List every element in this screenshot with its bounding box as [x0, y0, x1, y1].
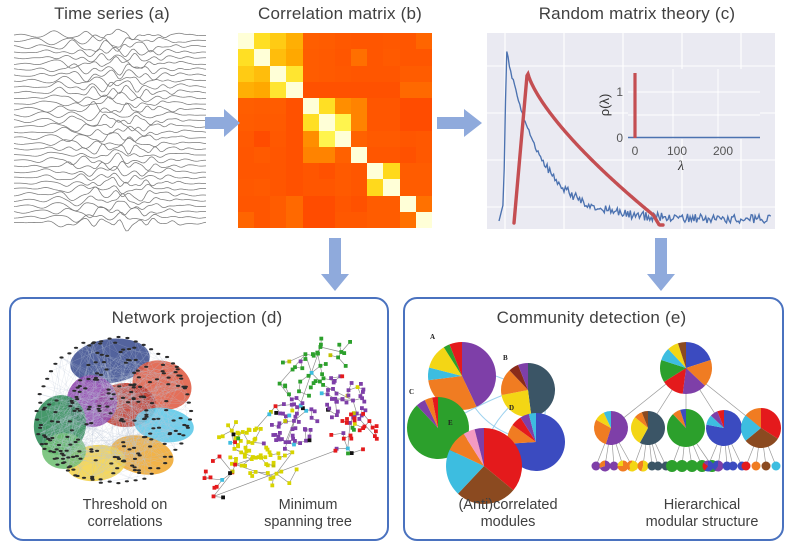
matrix-cell	[319, 179, 335, 195]
network-node	[134, 340, 138, 342]
network-node	[97, 408, 101, 410]
mst-node	[351, 399, 355, 403]
matrix-cell	[270, 196, 286, 212]
panel-a-title: Time series (a)	[22, 4, 202, 24]
matrix-cell	[383, 98, 399, 114]
mst-node	[212, 495, 216, 499]
mst-node	[239, 451, 243, 455]
mst-node	[266, 448, 270, 452]
network-node	[98, 342, 102, 344]
matrix-cell	[416, 179, 432, 195]
network-node	[38, 402, 42, 404]
network-node	[61, 458, 65, 460]
mst-node	[266, 463, 270, 467]
mst-node	[221, 434, 225, 438]
matrix-cell	[319, 147, 335, 163]
network-node	[73, 410, 77, 412]
network-node	[162, 372, 166, 374]
network-node	[74, 396, 78, 398]
matrix-cell	[303, 212, 319, 228]
network-node	[60, 453, 64, 455]
matrix-cell	[286, 196, 302, 212]
pie-slice	[592, 462, 601, 471]
mst-node	[320, 372, 324, 376]
mst-edge	[277, 474, 290, 483]
mst-node	[283, 384, 287, 388]
network-node	[149, 348, 153, 350]
network-node	[78, 379, 82, 381]
network-node	[120, 418, 124, 420]
matrix-cell	[286, 33, 302, 49]
mst-node	[356, 385, 360, 389]
mst-node	[334, 400, 338, 404]
mst-node	[241, 430, 245, 434]
matrix-cell	[286, 114, 302, 130]
network-node	[142, 418, 146, 420]
network-node	[108, 338, 112, 340]
mst-node	[278, 438, 282, 442]
inset-xtick-200: 200	[713, 144, 733, 158]
mst-node	[347, 388, 351, 392]
network-node	[148, 445, 152, 447]
network-node	[68, 420, 72, 422]
caption-threshold-line1: Threshold on	[45, 497, 205, 514]
mst-node	[283, 447, 287, 451]
network-node	[83, 387, 87, 389]
network-node	[97, 410, 101, 412]
network-node	[86, 364, 90, 366]
module-label: C	[409, 388, 414, 396]
matrix-cell	[416, 114, 432, 130]
matrix-cell	[303, 196, 319, 212]
network-node	[57, 444, 61, 446]
mst-node	[361, 447, 365, 451]
network-node	[133, 469, 137, 471]
mst-node	[319, 364, 323, 368]
network-node	[52, 451, 56, 453]
matrix-cell	[319, 98, 335, 114]
matrix-cell	[303, 163, 319, 179]
network-node	[59, 450, 63, 452]
matrix-cell	[319, 49, 335, 65]
network-node	[150, 402, 154, 404]
network-node	[142, 478, 146, 480]
mst-node	[345, 401, 349, 405]
mst-node	[266, 471, 270, 475]
matrix-cell	[367, 163, 383, 179]
mst-node	[332, 381, 336, 385]
network-node	[90, 451, 94, 453]
matrix-cell	[367, 66, 383, 82]
matrix-cell	[254, 147, 270, 163]
mst-node	[353, 419, 357, 423]
network-node	[41, 385, 45, 387]
matrix-cell	[319, 131, 335, 147]
matrix-cell	[335, 131, 351, 147]
matrix-cell	[254, 196, 270, 212]
mst-node	[326, 392, 330, 396]
matrix-cell	[351, 147, 367, 163]
mst-node	[309, 428, 313, 432]
matrix-cell	[383, 49, 399, 65]
matrix-cell	[383, 147, 399, 163]
mst-node	[322, 376, 326, 380]
network-node	[65, 436, 69, 438]
matrix-cell	[254, 114, 270, 130]
mst-node	[346, 452, 350, 456]
mst-node	[342, 437, 346, 441]
panel-c-title: Random matrix theory (c)	[492, 4, 782, 24]
mst-node	[283, 419, 287, 423]
network-node	[142, 344, 146, 346]
network-node	[72, 390, 76, 392]
matrix-cell	[400, 49, 416, 65]
matrix-cell	[335, 82, 351, 98]
matrix-cell	[351, 163, 367, 179]
mst-node	[247, 449, 251, 453]
mst-node	[213, 486, 217, 490]
network-node	[75, 455, 79, 457]
network-node	[117, 458, 121, 460]
mst-node	[293, 439, 297, 443]
mst-node	[350, 381, 354, 385]
network-node	[38, 427, 42, 429]
matrix-cell	[335, 66, 351, 82]
mst-node	[319, 337, 323, 341]
mst-node	[253, 438, 257, 442]
matrix-cell	[303, 82, 319, 98]
mst-node	[347, 394, 351, 398]
mst-node	[345, 421, 349, 425]
matrix-cell	[383, 131, 399, 147]
mst-node	[319, 343, 323, 347]
network-node	[132, 386, 136, 388]
mst-node	[203, 476, 207, 480]
matrix-cell	[351, 131, 367, 147]
network-node	[161, 370, 165, 372]
mst-node	[300, 366, 304, 370]
network-node	[124, 362, 128, 364]
network-node	[155, 378, 159, 380]
mst-node	[284, 440, 288, 444]
network-node	[78, 391, 82, 393]
network-node	[35, 410, 39, 412]
mst-node	[270, 423, 274, 427]
network-node	[121, 397, 125, 399]
mst-node	[308, 438, 312, 442]
mst-node	[359, 394, 363, 398]
mst-node	[291, 434, 295, 438]
network-node	[95, 379, 99, 381]
network-node	[97, 405, 101, 407]
network-node	[39, 424, 43, 426]
mst-node	[228, 441, 232, 445]
network-node	[121, 349, 125, 351]
mst-node	[349, 437, 353, 441]
inset-ytick-1: 1	[616, 85, 623, 99]
network-node	[90, 476, 94, 478]
mst-edge	[289, 469, 296, 483]
network-node	[148, 467, 152, 469]
mst-node	[350, 451, 354, 455]
mst-node	[346, 447, 350, 451]
matrix-cell	[351, 212, 367, 228]
matrix-cell	[270, 66, 286, 82]
network-node	[117, 385, 121, 387]
correlation-matrix-heatmap	[238, 33, 432, 228]
network-node	[173, 449, 177, 451]
network-node	[70, 402, 74, 404]
mst-node	[290, 403, 294, 407]
network-node	[132, 398, 136, 400]
matrix-cell	[303, 49, 319, 65]
matrix-cell	[367, 82, 383, 98]
matrix-cell	[367, 196, 383, 212]
matrix-cell	[416, 33, 432, 49]
network-node	[45, 378, 49, 380]
network-node	[42, 434, 46, 436]
network-node	[150, 473, 154, 475]
network-node	[172, 419, 176, 421]
mst-node	[209, 476, 213, 480]
network-node	[87, 408, 91, 410]
network-node	[78, 410, 82, 412]
mst-node	[329, 376, 333, 380]
matrix-cell	[270, 179, 286, 195]
mst-node	[254, 470, 258, 474]
module-label: E	[448, 419, 453, 427]
mst-edge	[317, 353, 322, 375]
matrix-cell	[303, 98, 319, 114]
mst-node	[233, 440, 237, 444]
mst-node	[243, 464, 247, 468]
mst-node	[269, 477, 273, 481]
matrix-cell	[303, 131, 319, 147]
mst-node	[329, 353, 333, 357]
mst-node	[341, 419, 345, 423]
matrix-cell	[367, 49, 383, 65]
network-node	[177, 433, 181, 435]
inset-xaxis-label: λ	[677, 159, 684, 174]
matrix-cell	[303, 66, 319, 82]
matrix-cell	[400, 212, 416, 228]
mst-node	[228, 456, 232, 460]
mst-node	[228, 471, 232, 475]
mst-node	[360, 406, 364, 410]
mst-edge	[320, 347, 341, 352]
network-node	[110, 398, 114, 400]
matrix-cell	[286, 147, 302, 163]
matrix-cell	[400, 114, 416, 130]
network-node	[50, 437, 54, 439]
matrix-cell	[383, 196, 399, 212]
network-node	[70, 429, 74, 431]
module-label: A	[430, 333, 435, 341]
matrix-cell	[238, 196, 254, 212]
pie-slice	[729, 462, 738, 471]
anticorrelated-modules-graph: ABCDE	[414, 332, 596, 492]
matrix-cell	[367, 179, 383, 195]
network-node	[133, 458, 137, 460]
mst-node	[301, 401, 305, 405]
network-node	[66, 456, 70, 458]
matrix-cell	[351, 33, 367, 49]
network-node	[136, 452, 140, 454]
mst-node	[267, 412, 271, 416]
inset-xtick-0: 0	[632, 144, 639, 158]
arrow-a-to-b	[205, 106, 241, 140]
arrow-b-to-d	[318, 238, 352, 292]
network-node	[91, 342, 95, 344]
mst-node	[259, 427, 263, 431]
mst-node	[282, 402, 286, 406]
network-node	[99, 374, 103, 376]
network-node	[138, 454, 142, 456]
mst-node	[233, 463, 237, 467]
network-node	[111, 472, 115, 474]
matrix-cell	[254, 163, 270, 179]
mst-node	[359, 382, 363, 386]
matrix-cell	[319, 114, 335, 130]
matrix-cell	[319, 212, 335, 228]
mst-node	[236, 431, 240, 435]
caption-mst-line1: Minimum	[228, 497, 388, 514]
matrix-cell	[351, 98, 367, 114]
mst-node	[375, 424, 379, 428]
matrix-cell	[270, 114, 286, 130]
mst-node	[277, 425, 281, 429]
matrix-cell	[367, 212, 383, 228]
mst-node	[295, 468, 299, 472]
mst-node	[274, 411, 278, 415]
mst-node	[287, 440, 291, 444]
network-node	[176, 385, 180, 387]
network-node	[47, 403, 51, 405]
pie-slice	[752, 462, 761, 471]
matrix-cell	[254, 98, 270, 114]
mst-node	[318, 380, 322, 384]
network-node	[156, 467, 160, 469]
mst-node	[316, 352, 320, 356]
network-node	[119, 351, 123, 353]
matrix-cell	[335, 212, 351, 228]
mst-node	[220, 478, 224, 482]
matrix-cell	[383, 179, 399, 195]
matrix-cell	[335, 163, 351, 179]
network-node	[130, 465, 134, 467]
hierarchical-structure-graph	[596, 338, 776, 490]
mst-node	[371, 426, 375, 430]
network-node	[71, 469, 75, 471]
matrix-cell	[238, 49, 254, 65]
network-node	[136, 401, 140, 403]
mst-node	[329, 433, 333, 437]
network-node	[61, 462, 65, 464]
mst-node	[272, 461, 276, 465]
minimum-spanning-tree-graph	[185, 330, 381, 498]
network-node	[78, 385, 82, 387]
mst-node	[310, 407, 314, 411]
matrix-cell	[238, 163, 254, 179]
matrix-cell	[286, 131, 302, 147]
network-node	[59, 356, 63, 358]
mst-node	[234, 457, 238, 461]
matrix-cell	[400, 82, 416, 98]
mst-node	[299, 360, 303, 364]
matrix-cell	[270, 131, 286, 147]
matrix-cell	[270, 98, 286, 114]
matrix-cell	[286, 82, 302, 98]
mst-node	[340, 398, 344, 402]
network-node	[144, 366, 148, 368]
matrix-cell	[238, 82, 254, 98]
matrix-cell	[270, 33, 286, 49]
network-node	[112, 393, 116, 395]
mst-node	[278, 421, 282, 425]
network-node	[163, 462, 167, 464]
network-node	[134, 479, 138, 481]
network-node	[157, 427, 161, 429]
network-node	[38, 393, 42, 395]
matrix-cell	[351, 179, 367, 195]
mst-node	[330, 415, 334, 419]
mst-node	[304, 439, 308, 443]
matrix-cell	[416, 66, 432, 82]
network-node	[174, 430, 178, 432]
mst-node	[342, 351, 346, 355]
matrix-cell	[400, 131, 416, 147]
network-node	[42, 448, 46, 450]
mst-node	[221, 496, 225, 500]
mst-node	[307, 394, 311, 398]
network-node	[55, 464, 59, 466]
network-node	[89, 448, 93, 450]
matrix-cell	[351, 196, 367, 212]
time-series-traces	[14, 31, 206, 229]
network-node	[82, 477, 86, 479]
mst-node	[335, 392, 339, 396]
mst-node	[279, 470, 283, 474]
network-node	[94, 459, 98, 461]
pie-slice	[762, 462, 771, 471]
network-node	[70, 400, 74, 402]
matrix-cell	[400, 98, 416, 114]
network-node	[65, 450, 69, 452]
network-node	[174, 371, 178, 373]
matrix-cell	[400, 147, 416, 163]
network-node	[152, 418, 156, 420]
mst-node	[287, 414, 291, 418]
network-node	[179, 378, 183, 380]
module-label: D	[509, 404, 514, 412]
network-node	[132, 447, 136, 449]
network-node	[48, 439, 52, 441]
pie-slice	[654, 462, 663, 471]
network-node	[86, 378, 90, 380]
mst-node	[294, 426, 298, 430]
network-node	[53, 411, 57, 413]
matrix-cell	[367, 33, 383, 49]
network-node	[122, 445, 126, 447]
network-node	[95, 450, 99, 452]
network-node	[171, 362, 175, 364]
network-node	[53, 363, 57, 365]
pie-slice	[610, 462, 619, 471]
panel-b-title: Correlation matrix (b)	[245, 4, 435, 24]
mst-node	[283, 454, 287, 458]
network-node	[142, 436, 146, 438]
network-node	[107, 392, 111, 394]
